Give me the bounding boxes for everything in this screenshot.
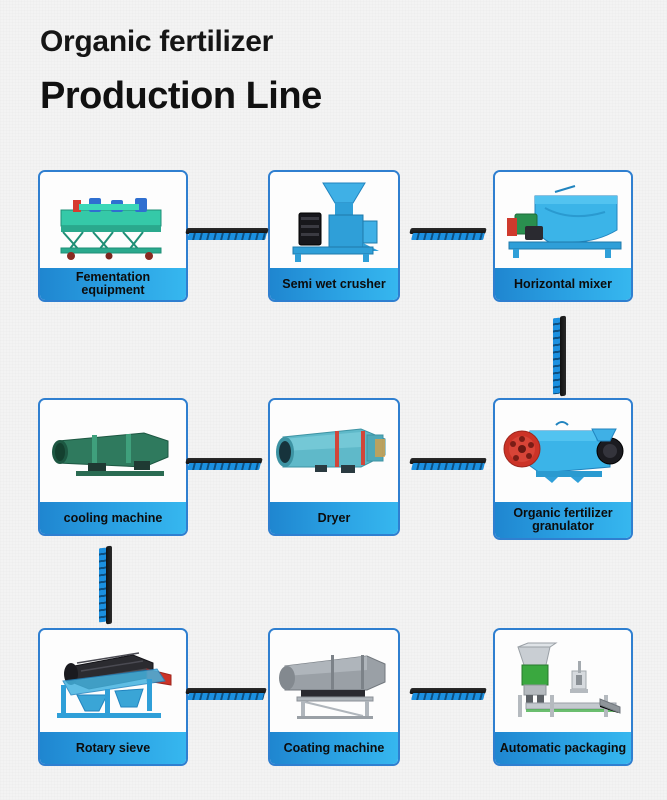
conveyor-granulator-to-dryer [410, 458, 486, 472]
flow-step-crusher[interactable]: Semi wet crusher [268, 170, 400, 302]
conveyor-rollers [187, 693, 265, 700]
conveyor-dryer-to-cooling [186, 458, 262, 472]
flow-step-sieve[interactable]: Rotary sieve [38, 628, 188, 766]
conveyor-rollers [411, 463, 485, 470]
rotary-dryer-image [270, 400, 398, 502]
semi-wet-crusher-image [270, 172, 398, 268]
fermentation-turner-image [40, 172, 186, 268]
flow-step-label: Automatic packaging [495, 732, 631, 764]
conveyor-rollers [187, 463, 261, 470]
flow-step-dryer[interactable]: Dryer [268, 398, 400, 536]
title-line-2: Production Line [40, 72, 600, 120]
page-title: Organic fertilizer Production Line [40, 22, 600, 120]
granulator-image [495, 400, 631, 502]
flow-step-label: Dryer [270, 502, 398, 534]
flow-step-label: Organic fertilizer granulator [495, 502, 631, 538]
conveyor-belt [106, 546, 112, 625]
flow-step-cooling[interactable]: cooling machine [38, 398, 188, 536]
conveyor-crusher-to-mixer [410, 228, 486, 242]
flow-step-label: Fementation equipment [40, 268, 186, 300]
conveyor-rollers [187, 233, 267, 240]
flow-step-fermentation[interactable]: Fementation equipment [38, 170, 188, 302]
coating-machine-image [270, 630, 398, 732]
conveyor-fermentation-to-crusher [186, 228, 268, 242]
flow-step-granulator[interactable]: Organic fertilizer granulator [493, 398, 633, 540]
conveyor-mixer-to-granulator [552, 316, 566, 396]
conveyor-rollers [411, 693, 485, 700]
flow-step-label: Coating machine [270, 732, 398, 764]
flow-step-label: Rotary sieve [40, 732, 186, 764]
flow-step-label: Semi wet crusher [270, 268, 398, 300]
conveyor-cooling-to-sieve [98, 546, 112, 624]
flow-step-packaging[interactable]: Automatic packaging [493, 628, 633, 766]
conveyor-sieve-to-coating [186, 688, 266, 702]
flow-step-mixer[interactable]: Horizontal mixer [493, 170, 633, 302]
packaging-machine-image [495, 630, 631, 732]
rotary-cooler-image [40, 400, 186, 502]
flow-step-coating[interactable]: Coating machine [268, 628, 400, 766]
conveyor-rollers [99, 548, 106, 623]
conveyor-rollers [411, 233, 485, 240]
title-line-1: Organic fertilizer [40, 22, 600, 62]
horizontal-mixer-image [495, 172, 631, 268]
rotary-sieve-image [40, 630, 186, 732]
conveyor-belt [560, 316, 566, 397]
conveyor-rollers [553, 318, 560, 395]
flow-step-label: Horizontal mixer [495, 268, 631, 300]
flow-step-label: cooling machine [40, 502, 186, 534]
conveyor-coating-to-packaging [410, 688, 486, 702]
